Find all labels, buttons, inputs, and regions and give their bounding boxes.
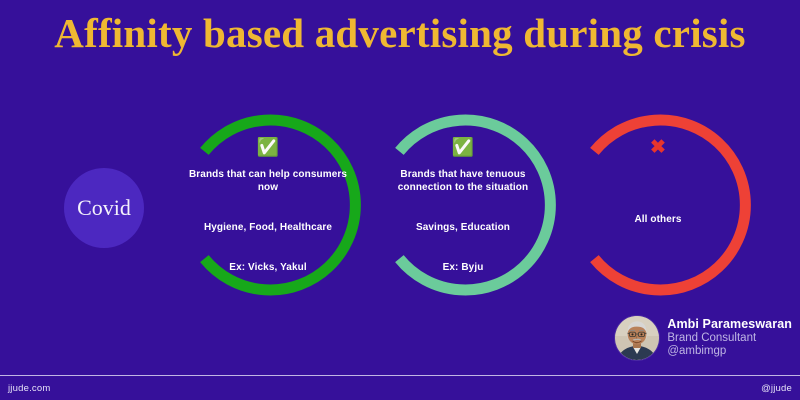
column-line-1: Brands that can help consumers now <box>178 168 358 194</box>
cross-mark-icon: ✖ <box>650 138 666 158</box>
check-mark-icon: ✅ <box>452 138 474 158</box>
column-can-help: ✅ Brands that can help consumers now Hyg… <box>168 105 368 305</box>
column-tenuous-connection: ✅ Brands that have tenuous connection to… <box>363 105 563 305</box>
check-mark-icon: ✅ <box>257 138 279 158</box>
covid-bubble-label: Covid <box>77 197 131 219</box>
column-line-1: All others <box>634 213 681 226</box>
column-text-block: Brands that have tenuous connection to t… <box>373 168 553 274</box>
column-text-block: All others <box>568 168 748 226</box>
author-handle: @ambimgp <box>667 345 792 359</box>
column-body: ✅ Brands that can help consumers now Hyg… <box>168 105 368 305</box>
avatar-illustration-icon <box>615 316 659 360</box>
column-line-1: Brands that have tenuous connection to t… <box>373 168 553 194</box>
slide-canvas: Affinity based advertising during crisis… <box>0 0 800 400</box>
column-all-others: ✖ All others <box>558 105 758 305</box>
author-name: Ambi Parameswaran <box>667 317 792 332</box>
column-line-3: Ex: Vicks, Yakul <box>229 261 306 274</box>
footer-bar: jjude.com @jjude <box>0 376 800 400</box>
column-line-2: Savings, Education <box>416 221 510 234</box>
footer-handle[interactable]: @jjude <box>761 383 792 394</box>
column-body: ✅ Brands that have tenuous connection to… <box>363 105 563 305</box>
author-role: Brand Consultant <box>667 332 792 346</box>
author-text-block: Ambi Parameswaran Brand Consultant @ambi… <box>667 317 792 359</box>
page-title: Affinity based advertising during crisis <box>0 10 800 56</box>
column-line-3: Ex: Byju <box>443 261 484 274</box>
column-text-block: Brands that can help consumers now Hygie… <box>178 168 358 274</box>
covid-bubble: Covid <box>64 168 144 248</box>
author-card: Ambi Parameswaran Brand Consultant @ambi… <box>615 316 792 360</box>
column-body: ✖ All others <box>558 105 758 305</box>
column-line-2: Hygiene, Food, Healthcare <box>204 221 332 234</box>
footer-website[interactable]: jjude.com <box>8 383 50 394</box>
author-avatar-photo <box>615 316 659 360</box>
